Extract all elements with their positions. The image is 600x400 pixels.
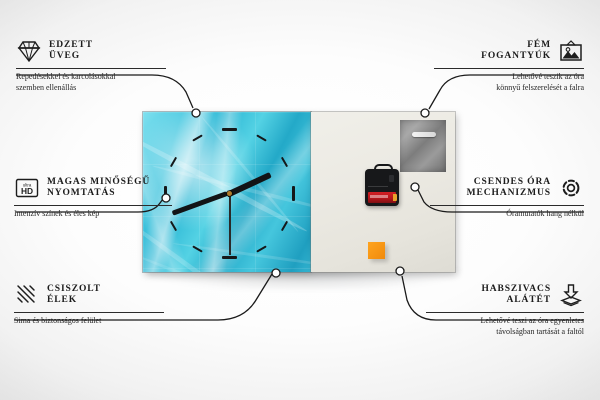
feature-description: Sima és biztonságos felület [14, 316, 164, 327]
mechanism-button [389, 175, 394, 182]
feature-quiet-mechanism: CSENDES ÓRA MECHANIZMUS Óramutatók hang … [430, 175, 584, 220]
infographic-canvas: EDZETT ÜVEG Repedésekkel és karcolásokka… [0, 0, 600, 400]
feature-description: Intenzív színek és éles kép [14, 209, 172, 220]
feature-description: Óramutatók hang nélkül [430, 209, 584, 220]
picture-hanger-icon [558, 38, 584, 64]
svg-text:HD: HD [21, 186, 33, 196]
feature-title: MAGAS MINŐSÉGŰ NYOMTATÁS [47, 177, 150, 200]
ultra-hd-icon: ultra HD [14, 175, 40, 201]
feature-description: Repedésekkel és karcolásokkal szemben el… [16, 72, 166, 93]
second-hand [229, 193, 231, 255]
hour-marker [292, 186, 295, 201]
battery-label [370, 195, 388, 198]
feature-description: Lehetővé teszik az óra könnyű felszerelé… [434, 72, 584, 93]
feature-title: CSENDES ÓRA MECHANIZMUS [467, 177, 551, 200]
divider [434, 68, 584, 69]
foam-pad-icon [558, 282, 584, 308]
clock-hub [227, 191, 232, 196]
gear-icon [558, 175, 584, 201]
feature-title: HABSZIVACS ALÁTÉT [481, 284, 551, 307]
feature-title: EDZETT ÜVEG [49, 40, 93, 63]
divider [430, 205, 584, 206]
metal-hanger-plate [400, 120, 446, 172]
battery-cap [393, 194, 397, 201]
hour-marker [222, 128, 237, 131]
divider [14, 312, 164, 313]
feature-foam-pad: HABSZIVACS ALÁTÉT Lehetővé teszi az óra … [426, 282, 584, 337]
feature-title: FÉM FOGANTYÚK [481, 40, 551, 63]
divider [16, 68, 166, 69]
feature-title: CSISZOLT ÉLEK [47, 284, 101, 307]
diamond-icon [16, 38, 42, 64]
hanger-slot [412, 132, 436, 137]
mechanism-seam [368, 186, 388, 187]
battery [368, 192, 396, 203]
hour-marker [222, 256, 237, 259]
clock-mechanism [365, 169, 399, 206]
divider [14, 205, 172, 206]
foam-pad-sample [368, 242, 385, 259]
feature-tempered-glass: EDZETT ÜVEG Repedésekkel és karcolásokka… [16, 38, 166, 93]
feature-metal-handles: FÉM FOGANTYÚK Lehetővé teszik az óra kön… [434, 38, 584, 93]
feature-hd-print: ultra HD MAGAS MINŐSÉGŰ NYOMTATÁS Intenz… [14, 175, 172, 220]
feature-polished-edges: CSISZOLT ÉLEK Sima és biztonságos felüle… [14, 282, 164, 327]
polished-edges-icon [14, 282, 40, 308]
feature-description: Lehetővé teszi az óra egyenletes távolsá… [426, 316, 584, 337]
divider [426, 312, 584, 313]
mechanism-loop [374, 164, 393, 174]
